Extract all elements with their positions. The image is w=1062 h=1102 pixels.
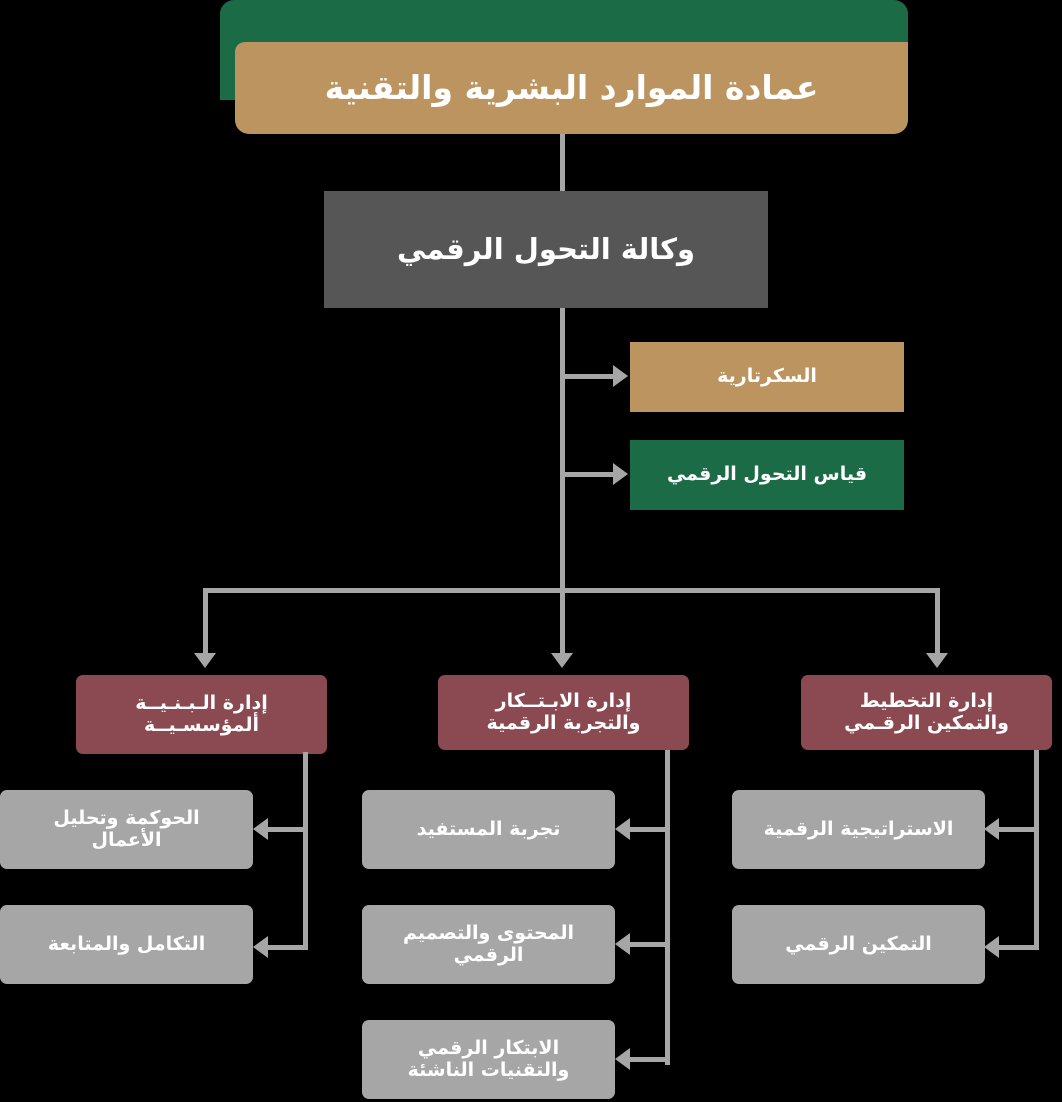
connector-innovation-to-unit-1 <box>628 827 670 832</box>
connector-innovation-to-unit-2 <box>628 942 670 947</box>
connector-innovation-spine <box>665 750 670 1065</box>
connector-planning-to-unit-1 <box>997 827 1039 832</box>
arrow-infrastructure-unit-2 <box>253 936 268 958</box>
arrow-innovation-unit-2 <box>615 933 630 955</box>
department-box-planning-enablement[interactable]: إدارة التخطيط والتمكين الرقـمي <box>801 675 1052 750</box>
unit-box-content-design[interactable]: المحتوى والتصميم الرقمي <box>362 905 615 984</box>
arrow-to-left-department <box>194 653 216 668</box>
staff-box-secretariat[interactable]: السكرتارية <box>630 342 904 412</box>
arrow-planning-unit-2 <box>984 936 999 958</box>
staff-box-measurement[interactable]: قياس التحول الرقمي <box>630 440 904 510</box>
connector-departments-bus <box>203 588 940 593</box>
unit-box-governance-business-analysis[interactable]: الحوكمة وتحليل الأعمال <box>0 790 253 869</box>
connector-agency-spine <box>560 308 565 593</box>
arrow-innovation-unit-1 <box>615 818 630 840</box>
connector-planning-to-unit-2 <box>997 945 1039 950</box>
unit-box-digital-strategy[interactable]: الاستراتيجية الرقمية <box>732 790 985 869</box>
unit-box-integration-followup[interactable]: التكامل والمتابعة <box>0 905 253 984</box>
department-box-innovation-experience[interactable]: إدارة الابـتــكار والتجربة الرقمية <box>438 675 689 750</box>
connector-drop-right-department <box>935 588 940 653</box>
arrow-innovation-unit-3 <box>615 1048 630 1070</box>
arrow-infrastructure-unit-1 <box>253 818 268 840</box>
connector-to-measurement <box>560 472 615 477</box>
connector-to-secretariat <box>560 374 615 379</box>
connector-infrastructure-to-unit-2 <box>266 945 308 950</box>
arrow-to-measurement <box>613 463 628 485</box>
connector-root-to-agency <box>560 134 565 191</box>
connector-infrastructure-spine <box>303 752 308 950</box>
unit-box-beneficiary-experience[interactable]: تجربة المستفيد <box>362 790 615 869</box>
department-box-institutional-infrastructure[interactable]: إدارة الـبـنـيــة ألمؤسسـيــة <box>76 675 327 754</box>
connector-innovation-to-unit-3 <box>628 1057 670 1062</box>
unit-box-digital-innovation-emerging-tech[interactable]: الابتكار الرقمي والتقنيات الناشئة <box>362 1020 615 1099</box>
arrow-to-center-department <box>551 653 573 668</box>
connector-infrastructure-to-unit-1 <box>266 827 308 832</box>
arrow-planning-unit-1 <box>984 818 999 840</box>
connector-drop-left-department <box>203 588 208 653</box>
org-chart-canvas: عمادة الموارد البشرية والتقنية وكالة الت… <box>0 0 1062 1102</box>
unit-box-digital-enablement[interactable]: التمكين الرقمي <box>732 905 985 984</box>
connector-drop-center-department <box>560 588 565 653</box>
agency-box-digital-transformation[interactable]: وكالة التحول الرقمي <box>324 191 768 308</box>
arrow-to-right-department <box>926 653 948 668</box>
root-box-deanship[interactable]: عمادة الموارد البشرية والتقنية <box>235 42 908 134</box>
arrow-to-secretariat <box>613 365 628 387</box>
connector-planning-spine <box>1034 750 1039 950</box>
